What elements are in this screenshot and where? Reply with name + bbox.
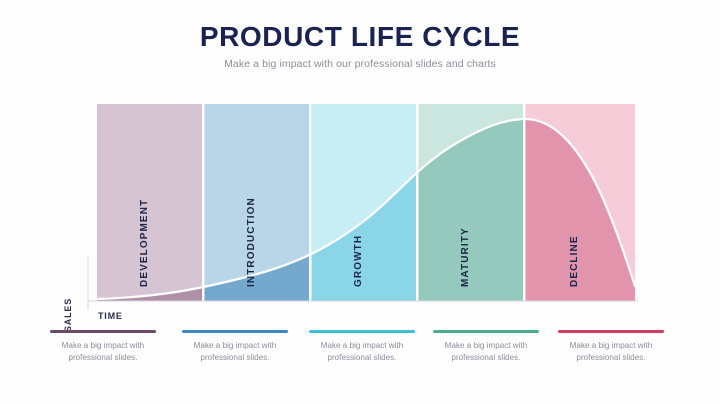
caption-accent-bar-maturity (433, 330, 539, 333)
caption-text-maturity: Make a big impact with professional slid… (433, 340, 539, 365)
caption-accent-bar-development (50, 330, 156, 333)
caption-line2: professional slides. (558, 352, 664, 364)
caption-line2: professional slides. (309, 352, 415, 364)
caption-maturity: Make a big impact with professional slid… (433, 330, 539, 364)
caption-line2: professional slides. (182, 352, 288, 364)
stage-label-maturity: MATURITY (460, 227, 471, 287)
header: PRODUCT LIFE CYCLE Make a big impact wit… (0, 22, 720, 70)
caption-line1: Make a big impact with (309, 340, 415, 352)
caption-growth: Make a big impact with professional slid… (309, 330, 415, 364)
caption-decline: Make a big impact with professional slid… (558, 330, 664, 364)
caption-accent-bar-introduction (182, 330, 288, 333)
caption-text-introduction: Make a big impact with professional slid… (182, 340, 288, 365)
x-axis-label: TIME (98, 311, 123, 321)
life-cycle-area-chart-svg (0, 96, 720, 326)
caption-line2: professional slides. (50, 352, 156, 364)
caption-accent-bar-growth (309, 330, 415, 333)
caption-line1: Make a big impact with (50, 340, 156, 352)
caption-text-growth: Make a big impact with professional slid… (309, 340, 415, 365)
page-title: PRODUCT LIFE CYCLE (0, 22, 720, 51)
caption-line1: Make a big impact with (182, 340, 288, 352)
stage-label-introduction: INTRODUCTION (246, 197, 257, 287)
caption-line1: Make a big impact with (433, 340, 539, 352)
footer-captions: Make a big impact with professional slid… (0, 330, 720, 390)
caption-introduction: Make a big impact with professional slid… (182, 330, 288, 364)
caption-accent-bar-decline (558, 330, 664, 333)
caption-text-decline: Make a big impact with professional slid… (558, 340, 664, 365)
caption-development: Make a big impact with professional slid… (50, 330, 156, 364)
caption-text-development: Make a big impact with professional slid… (50, 340, 156, 365)
product-life-cycle-chart: SALES TIME DEVELOPMENT INTRODUCTION GROW… (0, 96, 720, 326)
stage-label-growth: GROWTH (353, 235, 364, 287)
caption-line1: Make a big impact with (558, 340, 664, 352)
stage-label-development: DEVELOPMENT (139, 199, 150, 287)
y-axis-label: SALES (63, 298, 73, 332)
caption-line2: professional slides. (433, 352, 539, 364)
slide-canvas: PRODUCT LIFE CYCLE Make a big impact wit… (0, 0, 720, 404)
page-subtitle: Make a big impact with our professional … (0, 58, 720, 70)
stage-label-decline: DECLINE (569, 235, 580, 287)
